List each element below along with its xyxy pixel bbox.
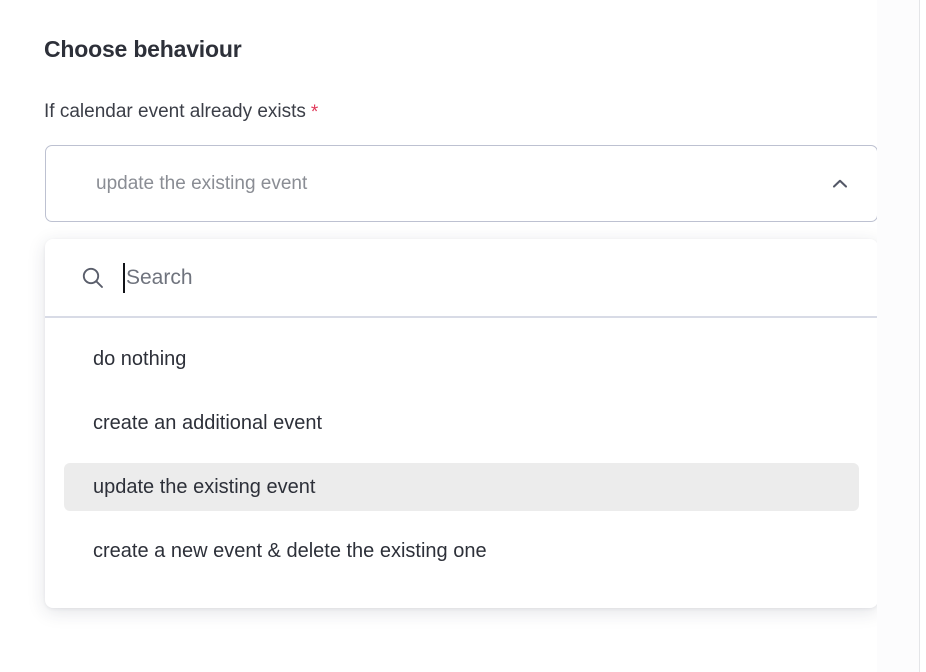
- behaviour-select-dropdown: Search do nothing create an additional e…: [45, 239, 878, 608]
- option-spacer: [45, 383, 878, 399]
- dropdown-option-create-an-additional-event[interactable]: create an additional event: [64, 399, 859, 447]
- text-caret: [123, 263, 125, 293]
- dropdown-option-update-the-existing-event[interactable]: update the existing event: [64, 463, 859, 511]
- search-icon: [80, 265, 106, 291]
- field-label: If calendar event already exists*: [44, 101, 318, 124]
- chevron-up-icon[interactable]: [829, 173, 851, 195]
- behaviour-select[interactable]: update the existing event: [45, 145, 878, 222]
- page-edge-divider: [919, 0, 920, 672]
- dropdown-option-do-nothing[interactable]: do nothing: [64, 335, 859, 383]
- search-input[interactable]: Search: [123, 261, 193, 295]
- required-asterisk: *: [311, 102, 318, 123]
- option-spacer: [45, 511, 878, 527]
- dropdown-search-row[interactable]: Search: [45, 239, 878, 318]
- dropdown-option-create-a-new-event-delete-the-existing-one[interactable]: create a new event & delete the existing…: [64, 527, 859, 575]
- dropdown-option-list: do nothing create an additional event up…: [45, 318, 878, 575]
- select-selected-value: update the existing event: [96, 173, 307, 195]
- page-title: Choose behaviour: [44, 36, 241, 63]
- choose-behaviour-form: Choose behaviour If calendar event alrea…: [0, 0, 877, 672]
- field-label-text: If calendar event already exists: [44, 101, 306, 122]
- option-spacer: [45, 447, 878, 463]
- search-placeholder: Search: [126, 266, 193, 290]
- page-right-gutter: [877, 0, 919, 672]
